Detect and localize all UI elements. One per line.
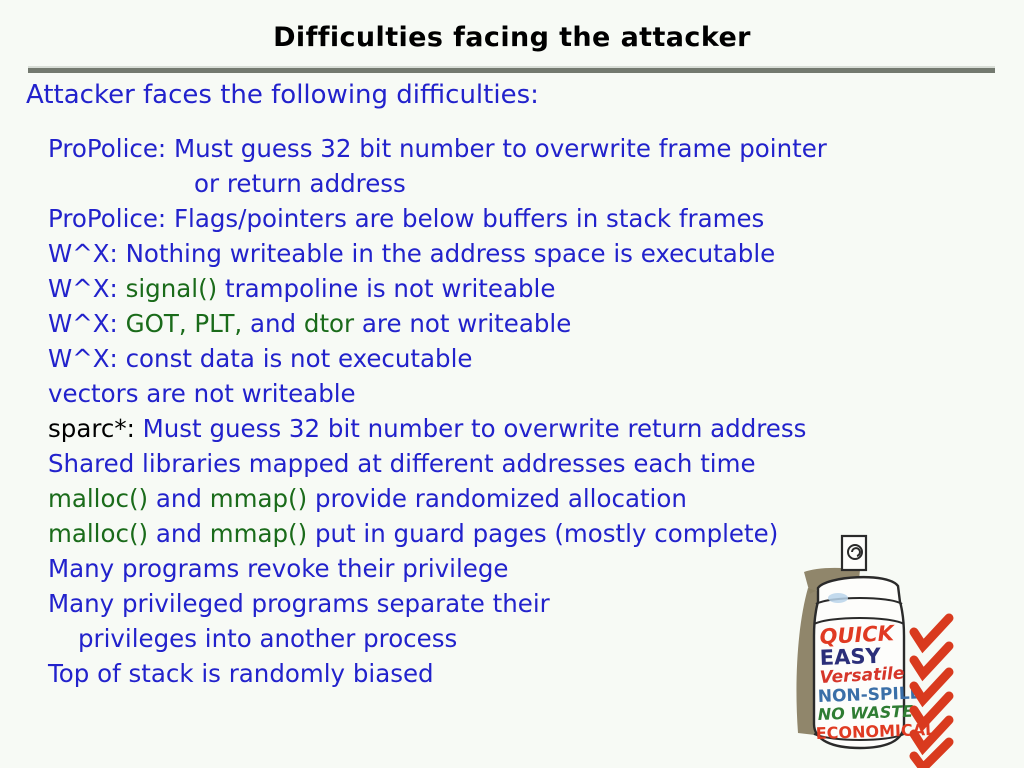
bullet-segment: or return address <box>194 169 406 198</box>
bullet-segment: W^X: <box>48 274 126 303</box>
bullet-segment: W^X: const data is not executable <box>48 344 472 373</box>
bullet-segment: signal() <box>126 274 218 303</box>
checkmark-icon <box>914 618 949 646</box>
bullet-segment: W^X: <box>48 309 126 338</box>
divider-bar <box>28 68 995 73</box>
bullet-line-shared-libraries: Shared libraries mapped at different add… <box>48 446 1008 481</box>
bullet-segment: and <box>242 309 304 338</box>
bullet-segment: Must guess 32 bit number to overwrite re… <box>135 414 807 443</box>
bullet-segment: Many programs revoke their privilege <box>48 554 509 583</box>
bullet-segment: and <box>148 484 210 513</box>
slide: Difficulties facing the attacker Attacke… <box>0 0 1024 768</box>
bullet-segment: W^X: Nothing writeable in the address sp… <box>48 239 775 268</box>
bullet-segment: trampoline is not writeable <box>217 274 555 303</box>
checkmark-icon <box>914 646 949 674</box>
bullet-segment: and <box>148 519 210 548</box>
bullet-line-sparc-guess: sparc*: Must guess 32 bit number to over… <box>48 411 1008 446</box>
bullet-segment: put in guard pages (mostly complete) <box>307 519 778 548</box>
checkmark-list <box>914 618 949 768</box>
page-title: Difficulties facing the attacker <box>0 22 1024 53</box>
spray-can-illustration: QUICK EASY Versatile NON-SPILL NO WASTE … <box>768 528 1024 768</box>
bullet-line-malloc-randomized: malloc() and mmap() provide randomized a… <box>48 481 1008 516</box>
bullet-segment: ProPolice: Must guess 32 bit number to o… <box>48 134 827 163</box>
lead-text: Attacker faces the following difficultie… <box>26 80 539 110</box>
bullet-segment: provide randomized allocation <box>307 484 687 513</box>
bullet-segment: mmap() <box>210 519 307 548</box>
bullet-line-vectors-not-writeable: vectors are not writeable <box>48 376 1008 411</box>
bullet-segment: malloc() <box>48 519 148 548</box>
bullet-line-propolice-guess: ProPolice: Must guess 32 bit number to o… <box>48 131 1008 166</box>
bullet-line-wx-const-data: W^X: const data is not executable <box>48 341 1008 376</box>
bullet-segment: are not writeable <box>354 309 571 338</box>
bullet-segment: vectors are not writeable <box>48 379 356 408</box>
bullet-segment: mmap() <box>210 484 307 513</box>
bullet-segment: privileges into another process <box>78 624 457 653</box>
bullet-segment: Shared libraries mapped at different add… <box>48 449 756 478</box>
bullet-line-propolice-guess-cont: or return address <box>48 166 1008 201</box>
can-nozzle <box>842 536 866 570</box>
bullet-segment: Top of stack is randomly biased <box>48 659 434 688</box>
bullet-line-wx-nothing-writeable: W^X: Nothing writeable in the address sp… <box>48 236 1008 271</box>
bullet-segment: GOT, PLT, <box>126 309 243 338</box>
bullet-segment: malloc() <box>48 484 148 513</box>
bullet-line-wx-signal-trampoline: W^X: signal() trampoline is not writeabl… <box>48 271 1008 306</box>
bullet-segment: ProPolice: Flags/pointers are below buff… <box>48 204 764 233</box>
bullet-segment: dtor <box>304 309 354 338</box>
bullet-segment: sparc*: <box>48 414 135 443</box>
bullet-line-wx-got-plt-dtor: W^X: GOT, PLT, and dtor are not writeabl… <box>48 306 1008 341</box>
bullet-line-propolice-flags: ProPolice: Flags/pointers are below buff… <box>48 201 1008 236</box>
bullet-segment: Many privileged programs separate their <box>48 589 550 618</box>
title-divider <box>28 66 995 73</box>
